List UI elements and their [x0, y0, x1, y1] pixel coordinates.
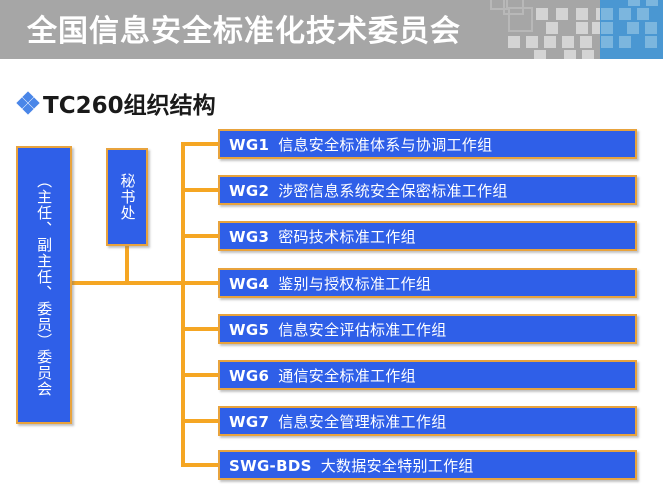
working-group-name: 鉴别与授权标准工作组 — [278, 275, 431, 293]
node-working-group-wg3[interactable]: WG3密码技术标准工作组 — [218, 221, 637, 251]
node-working-group-label: WG7信息安全管理标准工作组 — [229, 411, 447, 432]
working-group-name: 大数据安全特别工作组 — [321, 457, 474, 475]
node-working-group-label: WG6通信安全标准工作组 — [229, 365, 416, 386]
connector-branch-wg2 — [181, 188, 220, 192]
node-working-group-label: WG2涉密信息系统安全保密标准工作组 — [229, 180, 508, 201]
node-working-group-swgbds[interactable]: SWG-BDS大数据安全特别工作组 — [218, 450, 637, 480]
node-working-group-wg7[interactable]: WG7信息安全管理标准工作组 — [218, 406, 637, 436]
node-working-group-wg2[interactable]: WG2涉密信息系统安全保密标准工作组 — [218, 175, 637, 205]
node-secretariat-label: 秘书处 — [117, 173, 138, 221]
connector-branch-wg3 — [181, 234, 220, 238]
working-group-code: WG4 — [229, 275, 269, 293]
connector-branch-wg5 — [181, 327, 220, 331]
node-committee-label: （主任、副主任、委员）委员会 — [34, 155, 54, 415]
working-group-name: 密码技术标准工作组 — [278, 228, 416, 246]
working-group-name: 通信安全标准工作组 — [278, 367, 416, 385]
node-working-group-label: WG1信息安全标准体系与协调工作组 — [229, 134, 492, 155]
node-secretariat[interactable]: 秘书处 — [106, 148, 148, 246]
node-working-group-wg6[interactable]: WG6通信安全标准工作组 — [218, 360, 637, 390]
working-group-name: 信息安全标准体系与协调工作组 — [278, 136, 492, 154]
working-group-code: WG7 — [229, 413, 269, 431]
working-group-name: 涉密信息系统安全保密标准工作组 — [278, 182, 508, 200]
connector-branch-wg7 — [181, 419, 220, 423]
working-group-code: WG5 — [229, 321, 269, 339]
org-chart: （主任、副主任、委员）委员会 秘书处 WG1信息安全标准体系与协调工作组 WG2… — [0, 0, 663, 484]
node-working-group-wg5[interactable]: WG5信息安全评估标准工作组 — [218, 314, 637, 344]
connector-branch-wg6 — [181, 373, 220, 377]
working-group-code: WG6 — [229, 367, 269, 385]
node-working-group-label: SWG-BDS大数据安全特别工作组 — [229, 455, 474, 476]
working-group-code: WG1 — [229, 136, 269, 154]
node-working-group-wg4[interactable]: WG4鉴别与授权标准工作组 — [218, 268, 637, 298]
working-group-name: 信息安全评估标准工作组 — [278, 321, 446, 339]
node-committee[interactable]: （主任、副主任、委员）委员会 — [16, 146, 72, 424]
working-group-code: WG3 — [229, 228, 269, 246]
working-group-code: WG2 — [229, 182, 269, 200]
connector-branch-wg1 — [181, 142, 220, 146]
node-working-group-label: WG4鉴别与授权标准工作组 — [229, 273, 431, 294]
working-group-name: 信息安全管理标准工作组 — [278, 413, 446, 431]
node-working-group-label: WG3密码技术标准工作组 — [229, 226, 416, 247]
connector-branch-swgbds — [181, 463, 220, 467]
connector-secretariat-stem — [125, 246, 129, 283]
working-group-code: SWG-BDS — [229, 457, 312, 475]
connector-branch-wg4 — [181, 281, 220, 285]
node-working-group-wg1[interactable]: WG1信息安全标准体系与协调工作组 — [218, 129, 637, 159]
node-working-group-label: WG5信息安全评估标准工作组 — [229, 319, 447, 340]
